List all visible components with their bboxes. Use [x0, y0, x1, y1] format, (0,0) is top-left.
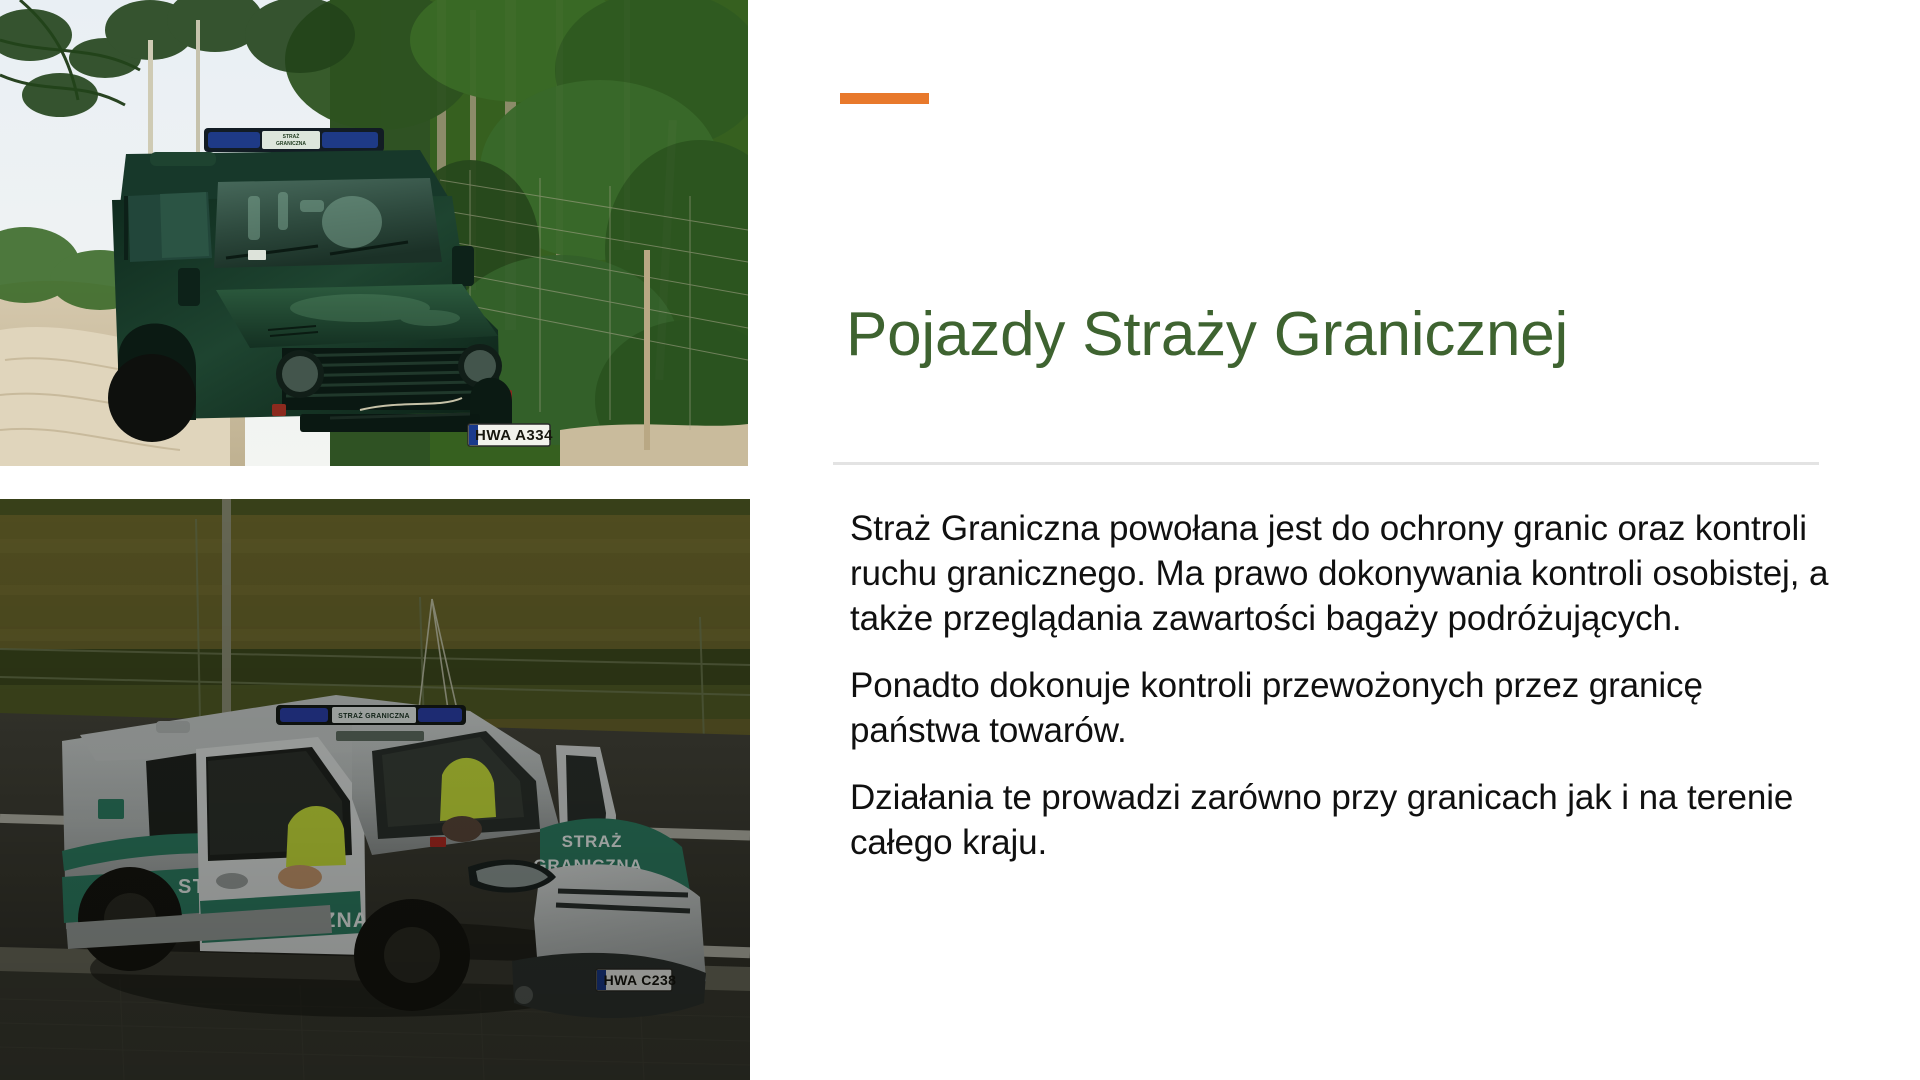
svg-text:GRANICZNA: GRANICZNA	[276, 141, 306, 147]
page-title: Pojazdy Straży Granicznej	[846, 298, 1856, 372]
photo-top-illustration: STRAŻ GRANICZNA	[0, 0, 748, 466]
svg-text:HWA A334: HWA A334	[475, 427, 553, 444]
photo-border-guard-patrol-van: ST RANICZNA	[0, 499, 750, 1080]
title-accent-bar	[840, 93, 929, 104]
paragraph-2: Ponadto dokonuje kontroli przewożonych p…	[850, 663, 1835, 753]
paragraph-1: Straż Graniczna powołana jest do ochrony…	[850, 506, 1835, 641]
svg-text:STRAŻ: STRAŻ	[283, 133, 300, 140]
slide-canvas: STRAŻ GRANICZNA	[0, 0, 1920, 1080]
paragraph-3: Działania te prowadzi zarówno przy grani…	[850, 775, 1835, 865]
body-text-block: Straż Graniczna powołana jest do ochrony…	[850, 506, 1835, 865]
photo-border-guard-offroad-vehicle: STRAŻ GRANICZNA	[0, 0, 748, 466]
title-divider	[833, 462, 1819, 465]
photo-bottom-illustration: ST RANICZNA	[0, 499, 750, 1080]
